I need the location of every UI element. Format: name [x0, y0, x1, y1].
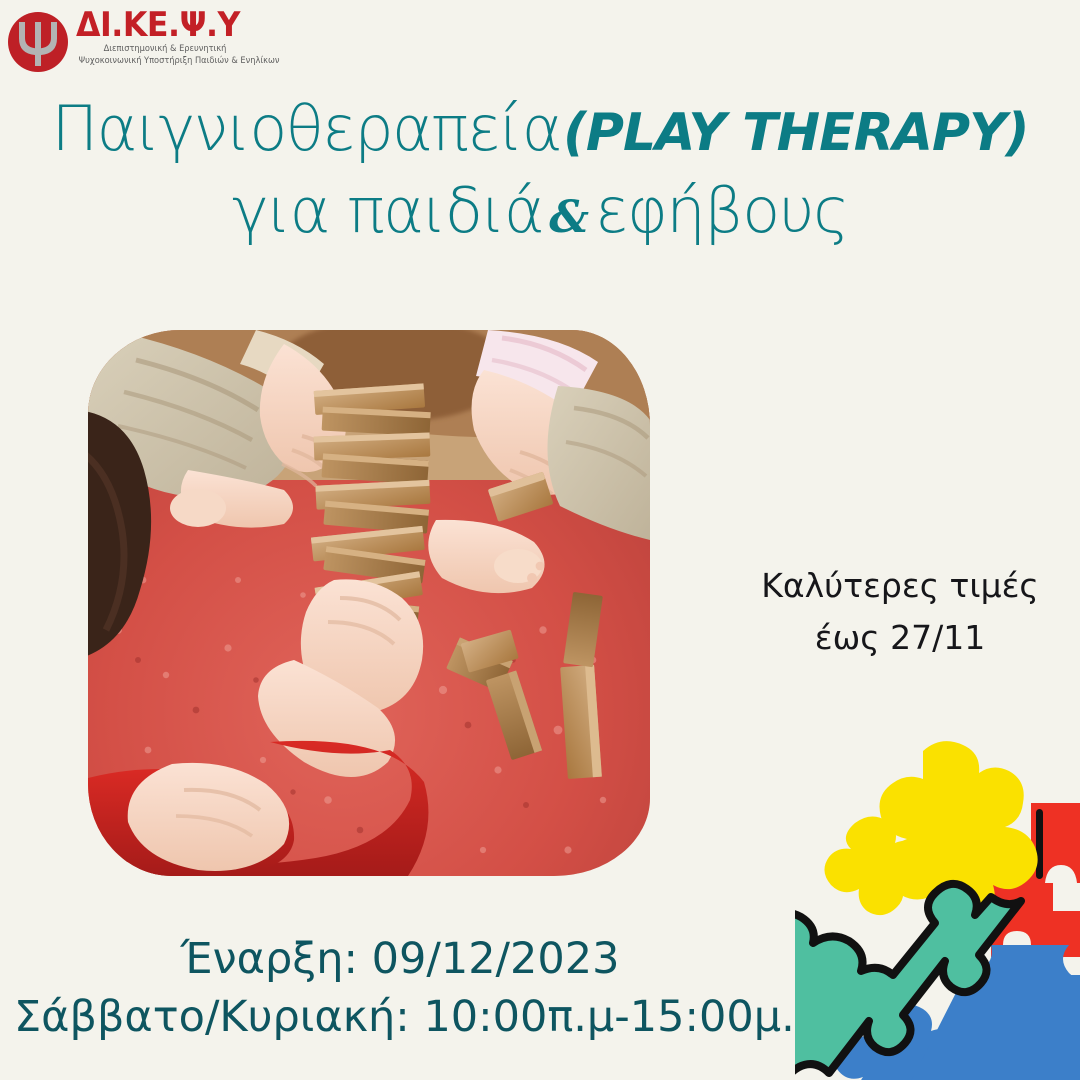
logo-wordmark: ΔΙ.ΚΕ.Ψ.Υ Διεπιστημονική & Ερευνητική Ψυ…	[76, 6, 254, 67]
logo-subtitle-line2: Ψυχοκοινωνική Υποστήριξη Παιδιών & Ενηλί…	[79, 56, 252, 68]
promo-line-1: Καλύτερες τιμές	[745, 560, 1055, 612]
promo-pricing-note: Καλύτερες τιμές έως 27/11	[745, 560, 1055, 664]
title-ampersand: &	[543, 192, 595, 243]
title-line-1: Παιγνιοθεραπεία(PLAY THERAPY)	[0, 96, 1080, 178]
title-english-parenthetical: (PLAY THERAPY)	[561, 103, 1028, 163]
puzzle-pieces-decoration	[795, 725, 1080, 1080]
poster-canvas: ΔΙ.ΚΕ.Ψ.Υ Διεπιστημονική & Ερευνητική Ψυ…	[0, 0, 1080, 1080]
children-playing-wooden-blocks-photo	[88, 330, 650, 876]
brand-logo[interactable]: ΔΙ.ΚΕ.Ψ.Υ Διεπιστημονική & Ερευνητική Ψυ…	[4, 4, 254, 80]
promo-line-2: έως 27/11	[745, 612, 1055, 664]
logo-subtitle-line1: Διεπιστημονική & Ερευνητική	[79, 44, 252, 56]
title-line-2: για παιδιά&εφήβους	[0, 178, 1080, 260]
title-audience-part1: για παιδιά	[232, 174, 543, 247]
psi-circle-logo-icon	[6, 10, 70, 74]
page-title: Παιγνιοθεραπεία(PLAY THERAPY) για παιδιά…	[0, 96, 1080, 260]
title-greek-main: Παιγνιοθεραπεία	[51, 92, 561, 165]
logo-acronym: ΔΙ.ΚΕ.Ψ.Υ	[76, 6, 242, 44]
title-audience-part2: εφήβους	[595, 174, 848, 247]
